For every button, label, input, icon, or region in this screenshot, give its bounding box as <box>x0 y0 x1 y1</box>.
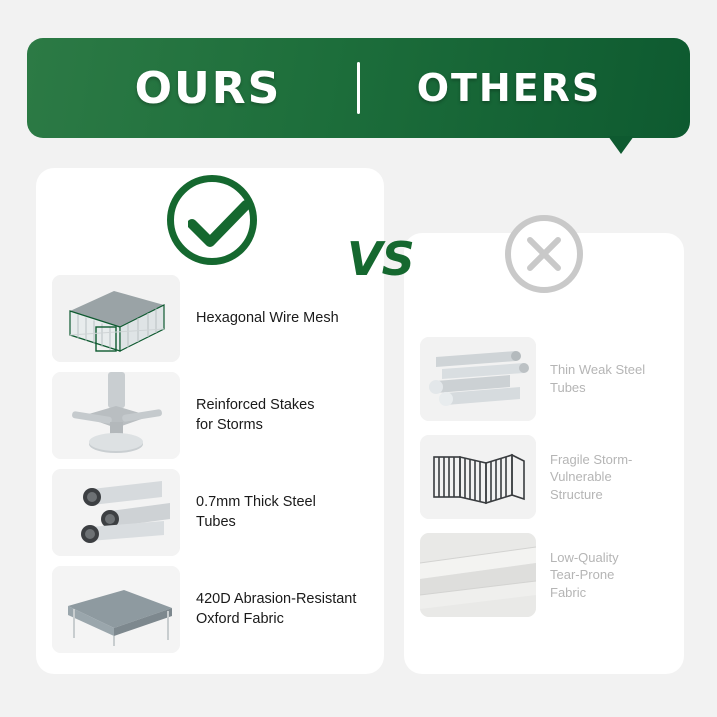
list-item-label-line3: Fabric <box>550 585 586 600</box>
list-item-label-line1: Thin Weak Steel <box>550 362 645 377</box>
banner-notch-icon <box>608 136 634 154</box>
list-item-label-line1: Low-Quality <box>550 550 619 565</box>
list-item-label: Hexagonal Wire Mesh <box>196 309 339 329</box>
banner-title-others: OTHERS <box>364 66 654 110</box>
others-feature-list: Thin Weak Steel Tubes <box>420 337 678 631</box>
list-item-label-line2: Vulnerable <box>550 469 612 484</box>
oxford-fabric-cover-photo <box>52 566 180 653</box>
comparison-banner: OURS OTHERS <box>27 38 690 138</box>
low-quality-fabric-photo <box>420 533 536 617</box>
list-item: Hexagonal Wire Mesh <box>52 275 372 362</box>
list-item-label-line2: Tear-Prone <box>550 567 614 582</box>
check-circle-icon <box>167 175 257 265</box>
list-item-label-line3: Structure <box>550 487 603 502</box>
banner-divider <box>357 62 360 114</box>
thick-steel-tubes-photo <box>52 469 180 556</box>
list-item-label: Fragile Storm- Vulnerable Structure <box>550 451 632 504</box>
list-item: Low-Quality Tear-Prone Fabric <box>420 533 678 617</box>
list-item-label: Reinforced Stakes for Storms <box>196 396 314 435</box>
banner-title-ours: OURS <box>63 63 353 114</box>
list-item: 0.7mm Thick Steel Tubes <box>52 469 372 556</box>
fragile-panel-fence-photo <box>420 435 536 519</box>
list-item-label-line2: Tubes <box>550 380 586 395</box>
chicken-coop-with-mesh-photo <box>52 275 180 362</box>
list-item: 420D Abrasion-Resistant Oxford Fabric <box>52 566 372 653</box>
cross-circle-icon <box>505 215 583 293</box>
list-item-label: Thin Weak Steel Tubes <box>550 361 645 396</box>
list-item: Reinforced Stakes for Storms <box>52 372 372 459</box>
list-item-label: Low-Quality Tear-Prone Fabric <box>550 549 619 602</box>
list-item-label-line2: Oxford Fabric <box>196 611 284 627</box>
ours-feature-list: Hexagonal Wire Mesh Reinforced Stakes fo… <box>52 275 372 663</box>
list-item-label-line2: Tubes <box>196 514 236 530</box>
list-item-label-line1: 420D Abrasion-Resistant <box>196 591 356 607</box>
list-item-label-line1: 0.7mm Thick Steel <box>196 494 316 510</box>
list-item: Thin Weak Steel Tubes <box>420 337 678 421</box>
list-item-label-line1: Reinforced Stakes <box>196 397 314 413</box>
banner-inner: OURS OTHERS <box>27 62 690 114</box>
list-item-label-line2: for Storms <box>196 417 263 433</box>
list-item-label: 0.7mm Thick Steel Tubes <box>196 493 316 532</box>
list-item-label-line1: Fragile Storm- <box>550 452 632 467</box>
list-item: Fragile Storm- Vulnerable Structure <box>420 435 678 519</box>
reinforced-stake-base-photo <box>52 372 180 459</box>
thin-steel-tubes-photo <box>420 337 536 421</box>
list-item-label: 420D Abrasion-Resistant Oxford Fabric <box>196 590 356 629</box>
